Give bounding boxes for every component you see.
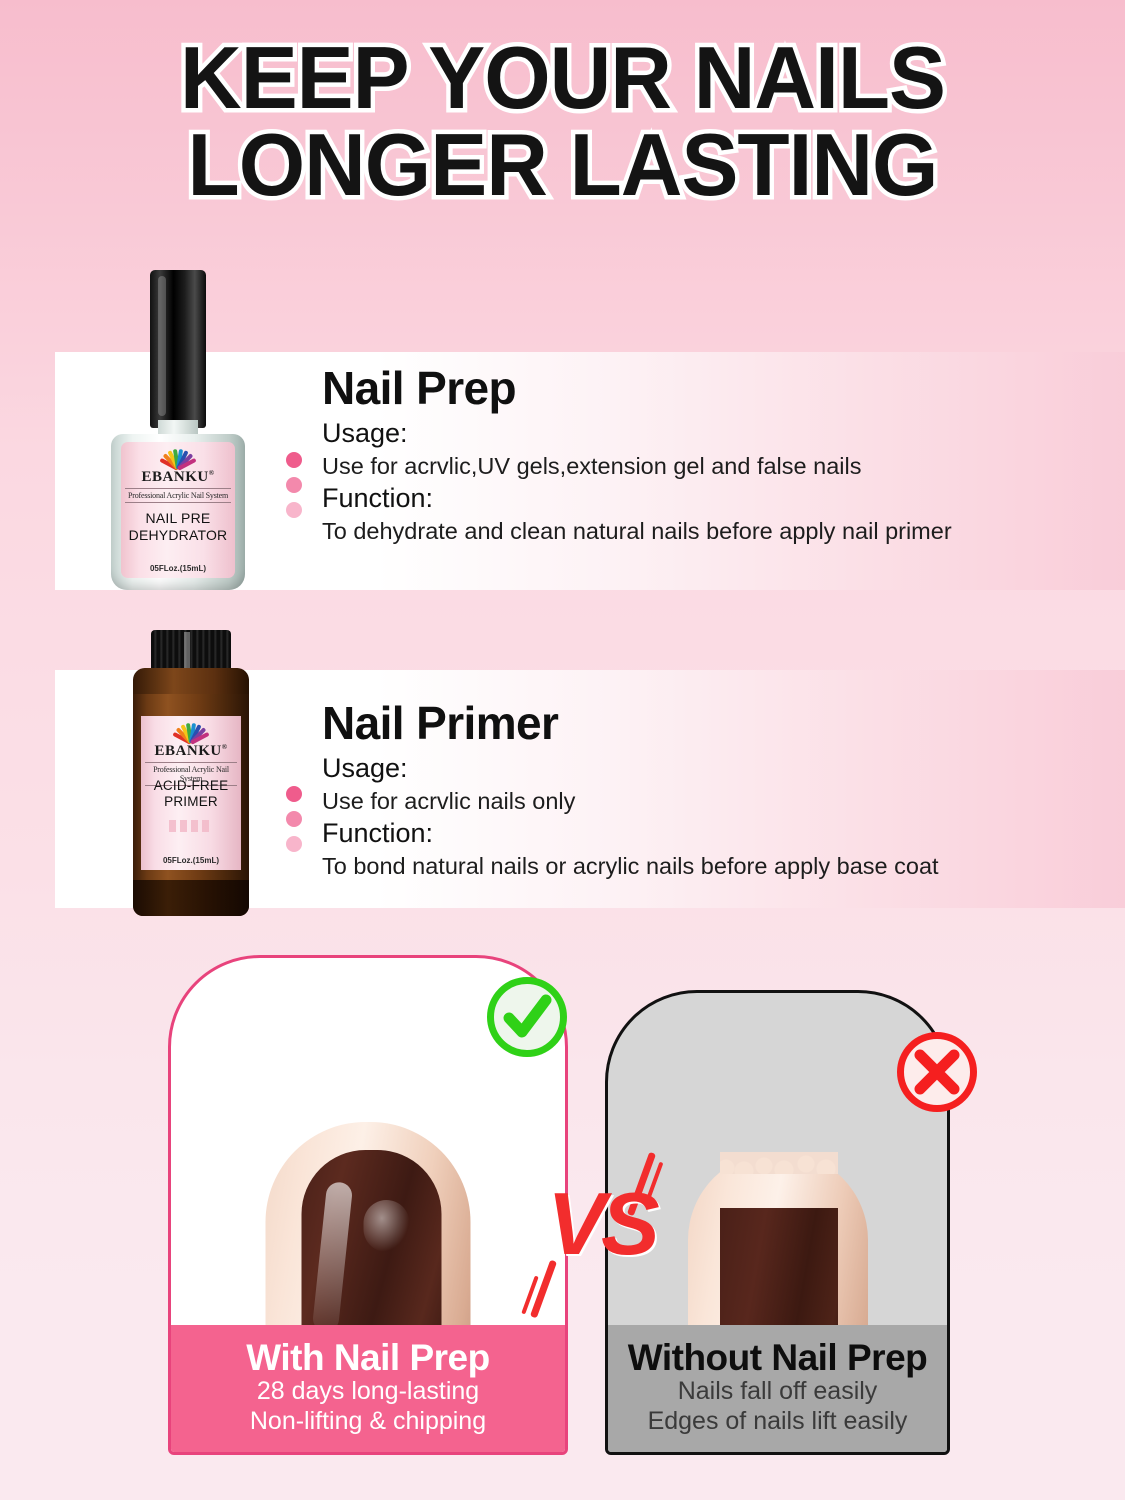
caption-bar-bad: Without Nail Prep Nails fall off easily … [608,1325,947,1452]
bottle-shoulder [133,668,249,694]
bullet-dot [286,786,302,802]
bottle-product-name: ACID-FREE PRIMER [143,778,239,810]
usage-text: Use for acrvlic nails only [322,786,939,817]
bullet-dot [286,477,302,493]
headline-line-1: KEEP YOUR NAILS [180,28,945,127]
bottle-brand: EBANKU® [121,469,235,486]
bottle-nail-pre-dehydrator: EBANKU® Professional Acrylic Nail System… [103,270,253,590]
bullet-dots [286,452,304,527]
nail-gloss-spot [364,1200,410,1252]
product-title: Nail Prep [322,365,952,411]
bullet-dot [286,452,302,468]
vs-label: VS [516,1173,686,1275]
bullet-dot [286,836,302,852]
bottle-cap [150,270,206,428]
caption-bar-good: With Nail Prep 28 days long-lasting Non-… [171,1325,565,1452]
rainbow-fan-icon [121,447,235,470]
function-text: To bond natural nails or acrylic nails b… [322,851,939,882]
bullet-dot [286,502,302,518]
function-label: Function: [322,481,952,516]
bullet-dots [286,786,304,861]
function-label: Function: [322,816,939,851]
bottle-body: EBANKU® Professional Acrylic Nail System… [111,434,245,590]
vs-badge: VS [516,1155,686,1305]
caption-line-1: 28 days long-lasting [179,1377,557,1407]
bottle-volume: 05FLoz.(15mL) [141,856,241,865]
bottle-base [133,880,249,916]
caption-line-1: Nails fall off easily [616,1377,939,1407]
bottle-label: EBANKU® Professional Acrylic Nail System… [141,716,241,870]
product-text-nail-primer: Nail Primer Usage: Use for acrvlic nails… [322,700,939,881]
usage-label: Usage: [322,416,952,451]
headline-line-2: LONGER LASTING [17,121,1108,208]
bottle-product-name: NAIL PRE DEHYDRATOR [123,510,233,543]
bottle-tagline: Professional Acrylic Nail System [125,488,231,503]
bottle-label: EBANKU® Professional Acrylic Nail System… [121,442,235,578]
caption-line-2: Edges of nails lift easily [616,1407,939,1437]
bottle-cap [151,630,231,672]
product-title: Nail Primer [322,700,939,746]
check-icon [487,977,567,1057]
bottle-acid-free-primer: EBANKU® Professional Acrylic Nail System… [123,630,258,920]
usage-label: Usage: [322,751,939,786]
usage-text: Use for acrvlic,UV gels,extension gel an… [322,451,952,482]
function-text: To dehydrate and clean natural nails bef… [322,516,952,547]
caption-line-2: Non-lifting & chipping [179,1407,557,1437]
registered-mark-icon: ® [222,743,228,751]
bottle-brand: EBANKU® [141,743,241,760]
nail-chip-edge [720,1152,838,1174]
caption-title: With Nail Prep [179,1338,557,1377]
bullet-dot [286,811,302,827]
registered-mark-icon: ® [209,469,215,477]
rainbow-fan-icon [141,721,241,744]
label-swatch-decor [169,820,213,832]
page-title: KEEP YOUR NAILS LONGER LASTING [17,34,1108,208]
caption-title: Without Nail Prep [616,1338,939,1377]
bottle-volume: 05FLoz.(15mL) [121,564,235,573]
cross-icon [897,1032,977,1112]
product-text-nail-prep: Nail Prep Usage: Use for acrvlic,UV gels… [322,365,952,546]
